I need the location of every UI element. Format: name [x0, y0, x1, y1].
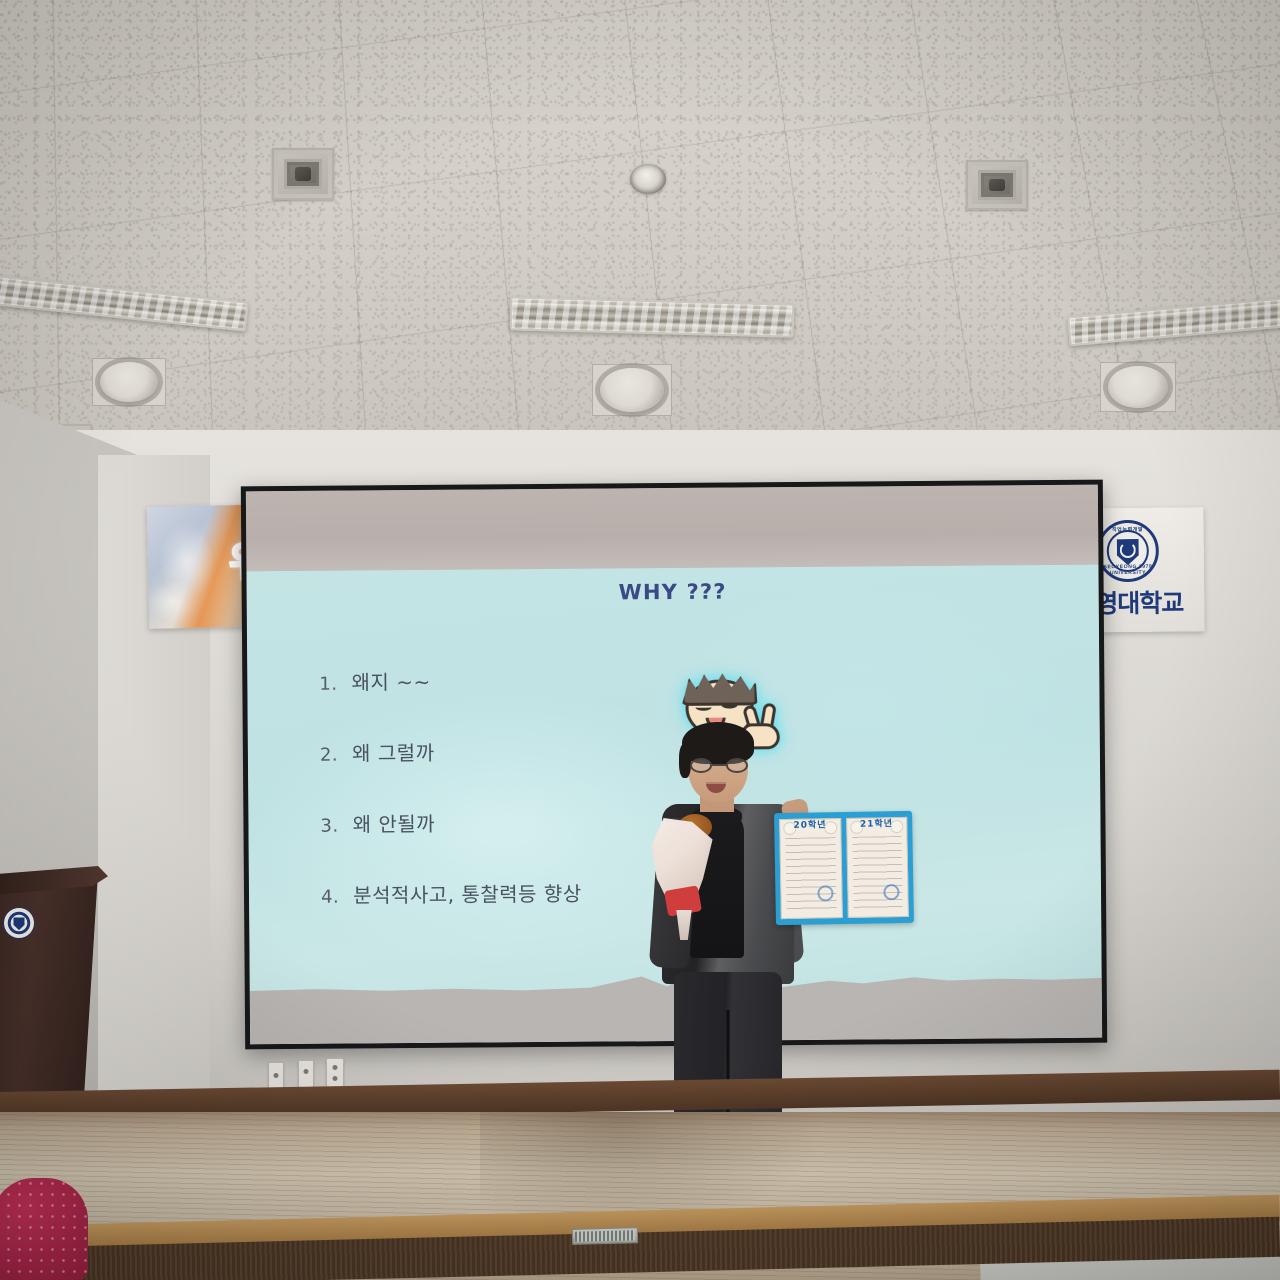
recessed-downlight — [630, 164, 666, 194]
certificate-handwriting — [852, 836, 903, 913]
glasses-lens-left — [690, 758, 712, 773]
list-item-number: 1. — [319, 674, 337, 695]
ceiling-speaker — [600, 368, 664, 412]
certificate-handwriting — [785, 837, 836, 914]
certificate-page-right: 21학년 — [846, 817, 909, 918]
list-item-text: 분석적사고, 통찰력등 향상 — [353, 878, 582, 909]
list-item-number: 4. — [321, 887, 339, 908]
emblem-top-text: 직업능력개발 — [1100, 526, 1156, 534]
list-item: 2. 왜 그럴까 — [320, 736, 581, 767]
ceiling — [0, 0, 1280, 500]
podium-emblem-icon — [4, 908, 34, 938]
ceiling-tile-grid — [0, 0, 1280, 500]
cartoon-hair — [681, 671, 757, 706]
screen-unlit-area — [246, 485, 1099, 572]
slide-title: WHY ??? — [247, 577, 1099, 608]
wall-outlet[interactable] — [326, 1058, 344, 1088]
floor-vent — [572, 1227, 638, 1245]
certificate-left-title: 20학년 — [780, 818, 840, 834]
emblem-shield — [1117, 539, 1139, 565]
emblem-bottom-text: SEOYEONG 1978 UNIVERSITY — [1100, 564, 1156, 577]
slide-bullet-list: 1. 왜지 ~~ 2. 왜 그럴까 3. 왜 안될까 4. 분석적사고, 통찰력… — [319, 665, 582, 951]
ceiling-air-diffuser — [966, 160, 1028, 210]
glasses-lens-right — [726, 758, 748, 773]
list-item-text: 왜 안될까 — [353, 808, 436, 838]
list-item-number: 2. — [320, 745, 338, 766]
list-item-text: 왜지 ~~ — [351, 666, 430, 696]
outlet-hole — [333, 1076, 338, 1081]
certificate-board: 20학년 21학년 — [774, 811, 914, 925]
auditorium-photo: 위드 직업능력개발 SEOYEONG 1978 UNIVERSITY 서영대학교… — [0, 0, 1280, 1280]
list-item-text: 왜 그럴까 — [352, 737, 435, 767]
certificate-page-left: 20학년 — [779, 818, 842, 919]
auditorium-seat[interactable] — [0, 1178, 88, 1280]
certificate-right-title: 21학년 — [847, 817, 907, 833]
certificate-stamp — [817, 885, 833, 901]
glasses-icon — [690, 758, 748, 773]
ceiling-air-diffuser — [272, 148, 334, 200]
list-item: 1. 왜지 ~~ — [319, 665, 580, 696]
ceiling-speaker — [100, 362, 158, 402]
glasses-bridge — [712, 764, 726, 766]
outlet-hole — [304, 1069, 309, 1074]
wall-outlet[interactable] — [268, 1062, 284, 1090]
wall-outlet[interactable] — [298, 1060, 314, 1088]
outlet-hole — [274, 1073, 279, 1078]
outlet-hole — [333, 1065, 338, 1070]
ceiling-speaker — [1108, 366, 1168, 408]
list-item: 4. 분석적사고, 통찰력등 향상 — [321, 878, 582, 909]
list-item-number: 3. — [320, 816, 338, 837]
university-emblem-icon: 직업능력개발 SEOYEONG 1978 UNIVERSITY — [1096, 520, 1159, 583]
list-item: 3. 왜 안될까 — [320, 807, 581, 838]
flower-bouquet — [650, 818, 720, 938]
